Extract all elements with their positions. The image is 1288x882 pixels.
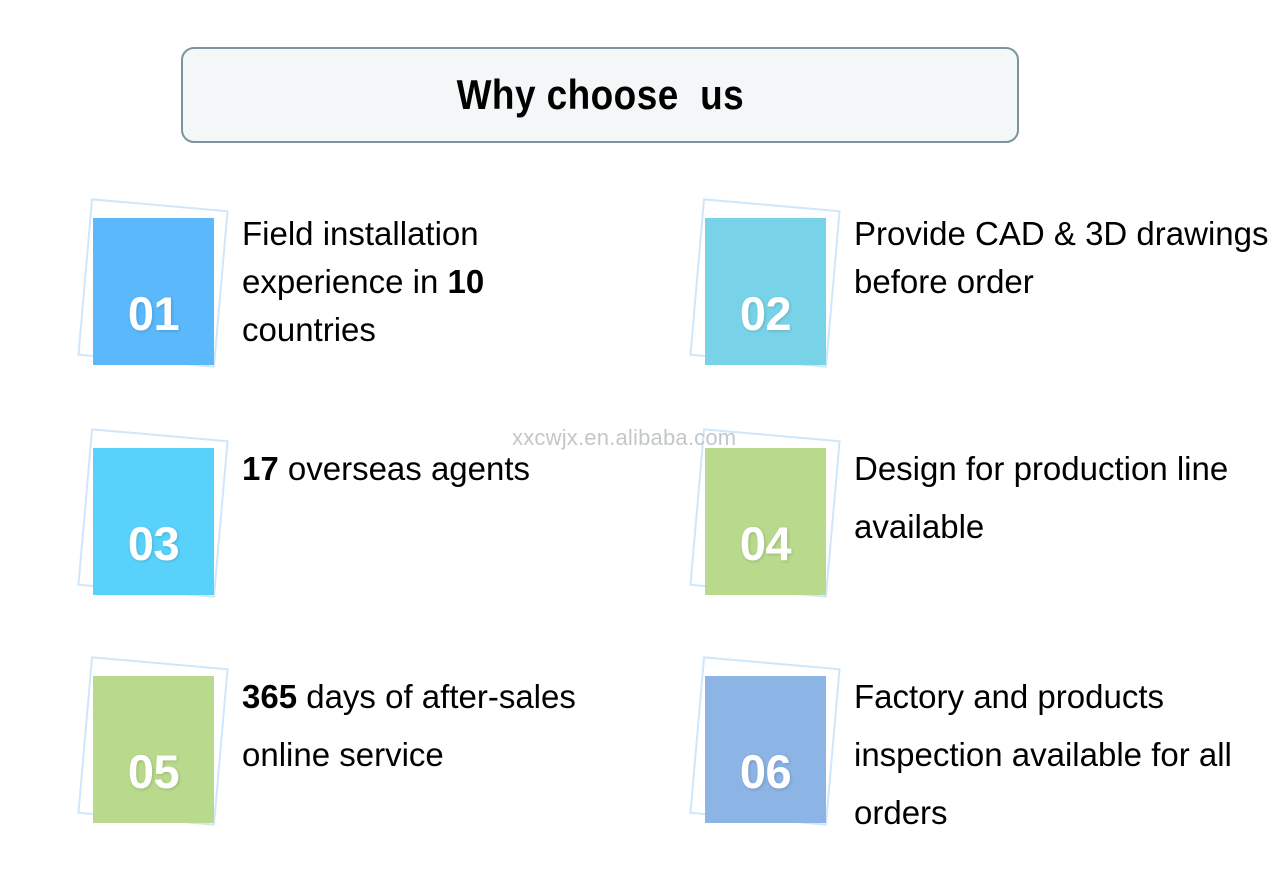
feature-item-06: 06 Factory and products inspection avail… (688, 654, 1254, 842)
number-tile: 03 (93, 448, 214, 595)
number-label: 01 (128, 290, 179, 365)
feature-description: Factory and products inspection availabl… (854, 654, 1254, 842)
number-tile: 06 (705, 676, 826, 823)
number-tile: 05 (93, 676, 214, 823)
feature-description: Design for production line available (854, 426, 1254, 556)
title-banner: Why choose us (181, 47, 1019, 143)
feature-description: Field installation experience in 10 coun… (242, 196, 572, 354)
feature-description: Provide CAD & 3D drawings before order (854, 196, 1274, 306)
feature-item-05: 05 365 days of after-sales online servic… (76, 654, 642, 834)
feature-item-02: 02 Provide CAD & 3D drawings before orde… (688, 196, 1274, 376)
number-label: 06 (740, 748, 791, 823)
number-label: 05 (128, 748, 179, 823)
number-badge-02: 02 (688, 196, 854, 376)
feature-item-03: 03 17 overseas agents (76, 426, 642, 606)
slide-canvas: Why choose us xxcwjx.en.alibaba.com 01 F… (0, 0, 1288, 882)
number-tile: 04 (705, 448, 826, 595)
page-title: Why choose us (456, 71, 744, 119)
feature-description: 17 overseas agents (242, 426, 642, 498)
number-badge-04: 04 (688, 426, 854, 606)
feature-item-01: 01 Field installation experience in 10 c… (76, 196, 572, 376)
number-label: 03 (128, 520, 179, 595)
feature-description: 365 days of after-sales online service (242, 654, 642, 784)
number-badge-05: 05 (76, 654, 242, 834)
number-badge-03: 03 (76, 426, 242, 606)
number-tile: 01 (93, 218, 214, 365)
number-badge-06: 06 (688, 654, 854, 834)
feature-item-04: 04 Design for production line available (688, 426, 1254, 606)
number-label: 04 (740, 520, 791, 595)
feature-grid: 01 Field installation experience in 10 c… (0, 196, 1288, 868)
number-badge-01: 01 (76, 196, 242, 376)
number-label: 02 (740, 290, 791, 365)
number-tile: 02 (705, 218, 826, 365)
